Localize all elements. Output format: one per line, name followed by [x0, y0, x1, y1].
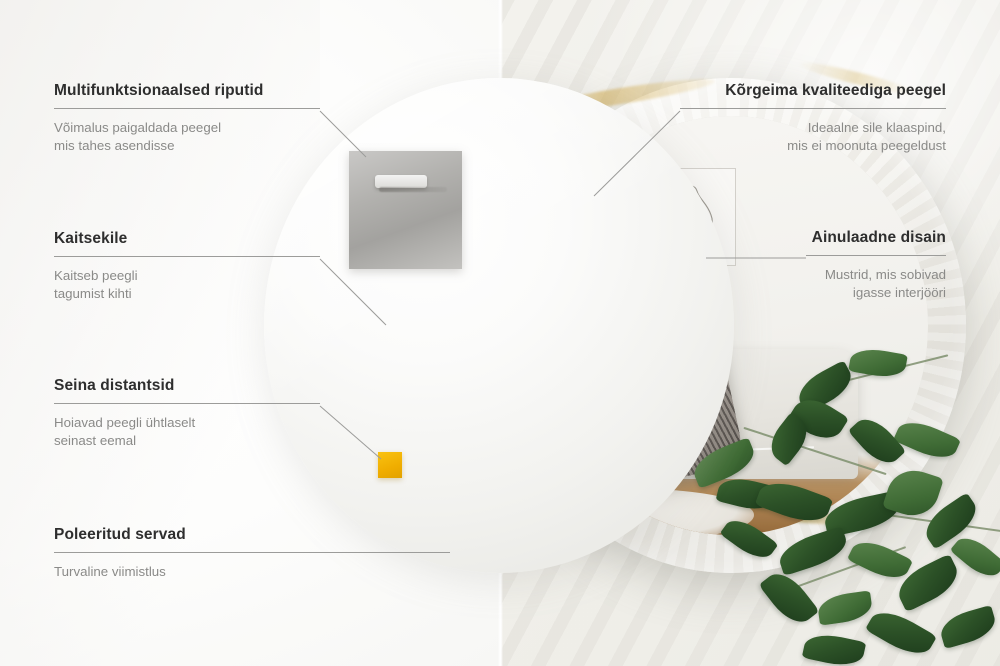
hanger-plate	[349, 151, 462, 269]
product-mirror-silhouette	[264, 78, 734, 573]
callout-ainulaadne-disain: Ainulaadne disain Mustrid, mis sobivad i…	[806, 229, 946, 302]
callout-description: Turvaline viimistlus	[54, 563, 450, 581]
callout-korgeima-kvaliteediga-peegel: Kõrgeima kvaliteediga peegel Ideaalne si…	[680, 82, 946, 155]
callout-seina-distantsid: Seina distantsid Hoiavad peegli ühtlasel…	[54, 377, 320, 450]
callout-description: Ideaalne sile klaaspind, mis ei moonuta …	[680, 119, 946, 155]
callout-title: Seina distantsid	[54, 377, 320, 395]
callout-rule	[54, 403, 320, 404]
callout-rule	[806, 255, 946, 256]
callout-description: Võimalus paigaldada peegel mis tahes ase…	[54, 119, 320, 155]
callout-description: Hoiavad peegli ühtlaselt seinast eemal	[54, 414, 320, 450]
callout-rule	[680, 108, 946, 109]
infographic-canvas: Multifunktsionaalsed riputid Võimalus pa…	[0, 0, 1000, 666]
hanger-slot-shadow	[379, 187, 447, 192]
callout-rule	[54, 256, 320, 257]
callout-title: Multifunktsionaalsed riputid	[54, 82, 320, 100]
callout-rule	[54, 108, 320, 109]
callout-description: Kaitseb peegli tagumist kihti	[54, 267, 320, 303]
callout-title: Kaitsekile	[54, 230, 320, 248]
wall-spacer	[378, 452, 402, 478]
callout-description: Mustrid, mis sobivad igasse interjööri	[806, 266, 946, 302]
callout-title: Ainulaadne disain	[806, 229, 946, 247]
plant-foliage	[700, 330, 1000, 666]
callout-title: Poleeritud servad	[54, 526, 450, 544]
callout-rule	[54, 552, 450, 553]
callout-poleeritud-servad: Poleeritud servad Turvaline viimistlus	[54, 526, 450, 581]
callout-multifunktsionaalsed-riputid: Multifunktsionaalsed riputid Võimalus pa…	[54, 82, 320, 155]
callout-title: Kõrgeima kvaliteediga peegel	[680, 82, 946, 100]
callout-kaitsekile: Kaitsekile Kaitseb peegli tagumist kihti	[54, 230, 320, 303]
